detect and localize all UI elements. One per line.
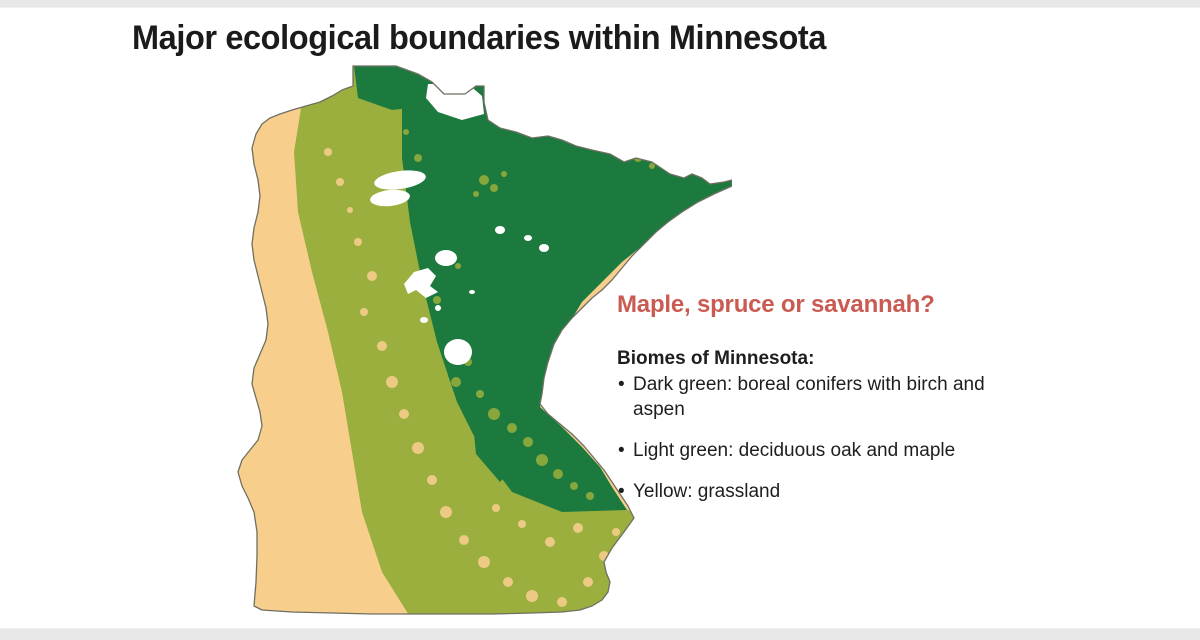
bullet-dot-icon: • [618,479,625,504]
list-item: • Light green: deciduous oak and maple [617,438,989,463]
bullet-dot-icon: • [618,372,625,397]
caption-lead-in: Biomes of Minnesota: [617,346,989,371]
bottom-frame-hairline [0,628,1200,629]
caption-heading: Maple, spruce or savannah? [617,290,989,320]
legend-caption-block: Maple, spruce or savannah? Biomes of Min… [617,290,989,504]
list-item-label: Yellow: grassland [633,481,780,502]
bullet-dot-icon: • [618,438,625,463]
biome-legend-list: • Dark green: boreal conifers with birch… [617,372,989,504]
top-frame-hairline [0,7,1200,8]
top-frame-strip [0,0,1200,7]
list-item: • Yellow: grassland [617,479,989,504]
list-item-label: Dark green: boreal conifers with birch a… [633,374,985,420]
page-title: Major ecological boundaries within Minne… [132,18,826,58]
infographic-figure: Major ecological boundaries within Minne… [0,0,1200,640]
bottom-frame-strip [0,629,1200,640]
list-item: • Dark green: boreal conifers with birch… [617,372,989,422]
list-item-label: Light green: deciduous oak and maple [633,440,955,461]
